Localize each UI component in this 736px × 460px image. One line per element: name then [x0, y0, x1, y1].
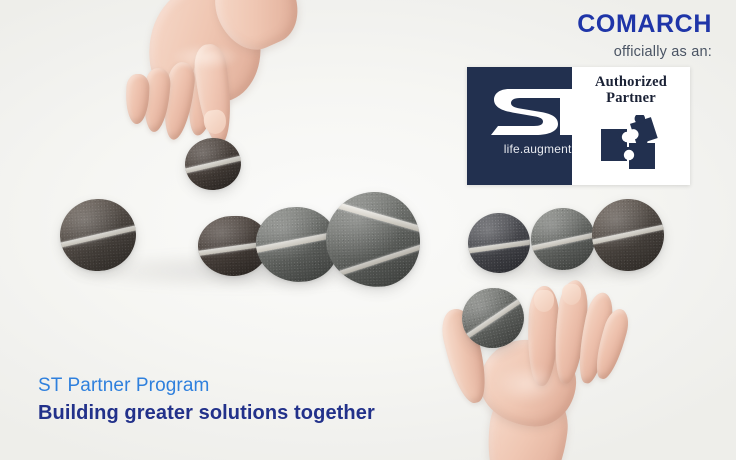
- stone-row-right: [324, 190, 421, 288]
- authorized-partner-line1: Authorized: [572, 74, 690, 90]
- authorized-partner-panel: Authorized Partner: [572, 67, 690, 185]
- stone-held-top: [182, 135, 243, 193]
- comarch-block: COMARCH officially as an:: [577, 12, 712, 60]
- comarch-logo: COMARCH: [577, 12, 712, 37]
- stone-right-c: [591, 198, 665, 272]
- comarch-subtitle: officially as an:: [577, 45, 712, 60]
- authorized-partner-line2: Partner: [572, 90, 690, 106]
- stone-right-a: [466, 211, 531, 274]
- stone-shading: [324, 190, 421, 288]
- middle-nail: [562, 284, 581, 305]
- stone-shading: [58, 196, 139, 273]
- palm-highlight: [494, 364, 560, 404]
- stone-shading: [530, 207, 596, 271]
- knuckle-highlight: [170, 44, 240, 70]
- headline-block: ST Partner Program Building greater solu…: [38, 374, 375, 426]
- authorized-partner-text: Authorized Partner: [572, 74, 690, 106]
- stone-held-bottom: [456, 282, 529, 354]
- banner-root: COMARCH officially as an: life.augmented…: [0, 0, 736, 460]
- stone-shading: [456, 282, 529, 354]
- stone-right-b: [530, 207, 596, 271]
- puzzle-pieces-icon: [599, 115, 663, 177]
- stone-shading: [466, 211, 531, 274]
- stone-shading: [182, 135, 243, 193]
- stone-shading: [591, 198, 665, 272]
- headline-line1: ST Partner Program: [38, 374, 375, 398]
- headline-line2: Building greater solutions together: [38, 400, 375, 426]
- st-authorized-partner-badge: life.augmented Authorized Partner: [467, 67, 690, 185]
- stone-left-single: [58, 196, 139, 273]
